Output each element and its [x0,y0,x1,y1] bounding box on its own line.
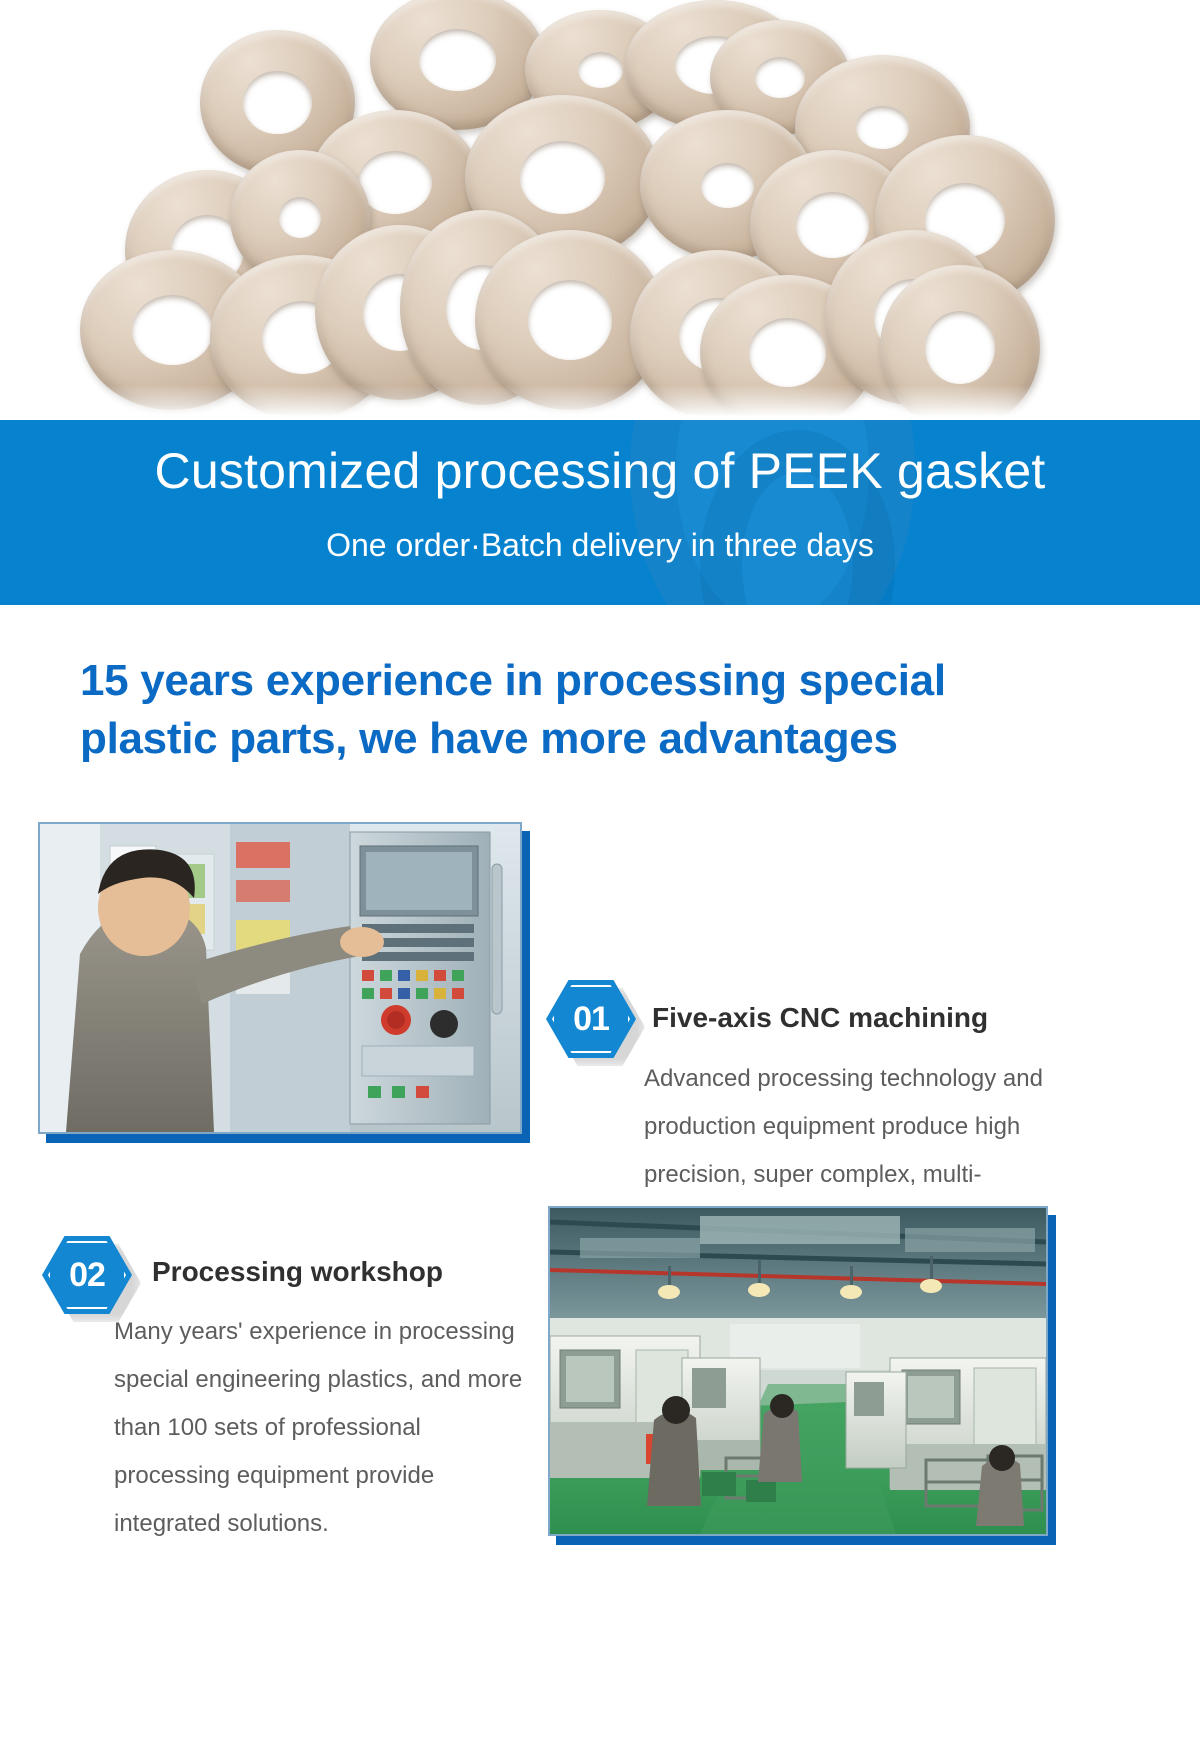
banner-subtitle: One order·Batch delivery in three days [0,527,1200,564]
cnc-operator-photo [40,824,520,1132]
hero-product-image [0,0,1200,425]
badge-number-02: 02 [42,1236,132,1314]
headline-line-1: 15 years experience in processing specia… [80,652,1070,710]
headline-line-2: plastic parts, we have more advantages [80,710,1070,768]
feature-badge-01: 01 [546,980,636,1058]
hero-bottom-fade [0,385,1200,425]
feature-title-01: Five-axis CNC machining [652,1002,988,1034]
workshop-photo [550,1208,1046,1534]
feature-title-02: Processing workshop [152,1256,443,1288]
hero-banner: Customized processing of PEEK gasket One… [0,420,1200,605]
gasket-pile [70,0,1130,425]
section-headline: 15 years experience in processing specia… [80,652,1070,768]
feature-photo-processing-workshop [548,1206,1048,1536]
banner-title: Customized processing of PEEK gasket [0,442,1200,500]
feature-body-02: Many years' experience in processing spe… [114,1308,528,1548]
feature-badge-02: 02 [42,1236,132,1314]
badge-number-01: 01 [546,980,636,1058]
feature-photo-cnc-machining [38,822,522,1134]
